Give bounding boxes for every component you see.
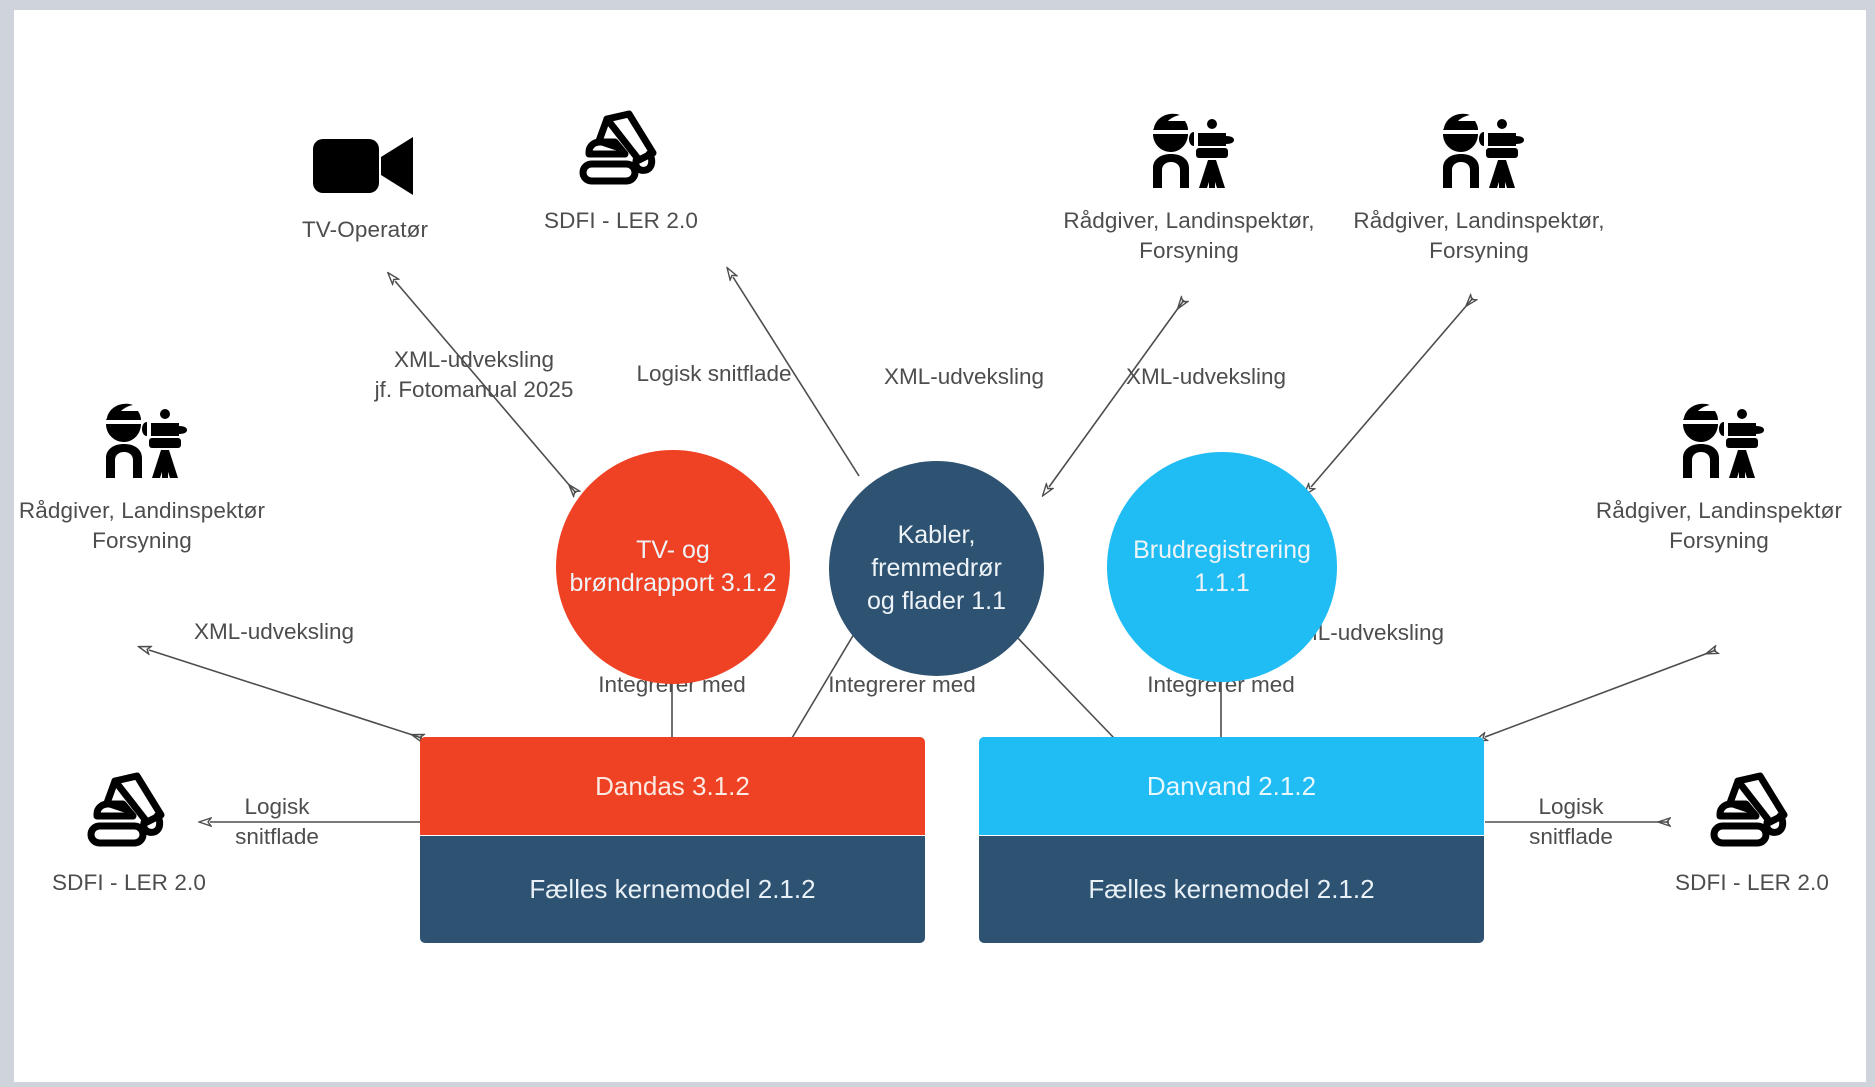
edge-label-integrerer-2: Integrerer med <box>792 670 1012 700</box>
excavator-icon <box>501 108 741 196</box>
node-label: Dandas 3.1.2 <box>595 771 750 802</box>
edge-label-xml-top-1: XML-udveksling <box>854 362 1074 392</box>
window-frame: TV-Operatør SDFI - LER 2.0 <box>0 0 1875 1087</box>
actor-label: Rådgiver, Landinspektør, Forsyning <box>1054 206 1324 266</box>
edge-label-logisk-left: Logisk snitflade <box>212 792 342 852</box>
node-kernemodel-right[interactable]: Fælles kernemodel 2.1.2 <box>979 836 1484 943</box>
node-label: Danvand 2.1.2 <box>1147 771 1316 802</box>
actor-label: Rådgiver, Landinspektør, Forsyning <box>1344 206 1614 266</box>
actor-sdfi-bottom-right[interactable]: SDFI - LER 2.0 <box>1652 770 1852 898</box>
actor-surveyor-left[interactable]: Rådgiver, Landinspektør Forsyning <box>14 400 277 556</box>
actor-label: TV-Operatør <box>265 215 465 245</box>
node-brudregistrering[interactable]: Brudregistrering 1.1.1 <box>1107 452 1337 682</box>
node-label: Fælles kernemodel 2.1.2 <box>529 874 815 905</box>
edge-kabler-danvand <box>1014 634 1114 738</box>
node-dandas[interactable]: Dandas 3.1.2 <box>420 737 925 835</box>
excavator-icon <box>1652 770 1852 858</box>
actor-surveyor-top-1[interactable]: Rådgiver, Landinspektør, Forsyning <box>1054 110 1324 266</box>
edge-label-logisk-right: Logisk snitflade <box>1506 792 1636 852</box>
actor-sdfi-top[interactable]: SDFI - LER 2.0 <box>501 108 741 236</box>
node-kabler-fremmedror[interactable]: Kabler, fremmedrør og flader 1.1 <box>829 461 1044 676</box>
surveyor-icon <box>1584 400 1854 486</box>
actor-sdfi-bottom-left[interactable]: SDFI - LER 2.0 <box>29 770 229 898</box>
edge-surveyor-top1 <box>1049 300 1184 487</box>
diagram-canvas: TV-Operatør SDFI - LER 2.0 <box>14 10 1866 1082</box>
edge-label-xml-fotomanual: XML-udveksling jf. Fotomanual 2025 <box>334 345 614 405</box>
node-label: Kabler, fremmedrør og flader 1.1 <box>829 519 1044 618</box>
actor-label: SDFI - LER 2.0 <box>29 868 229 898</box>
actor-label: SDFI - LER 2.0 <box>1652 868 1852 898</box>
excavator-icon <box>29 770 229 858</box>
surveyor-icon <box>1054 110 1324 196</box>
actor-label: Rådgiver, Landinspektør Forsyning <box>14 496 277 556</box>
edge-surveyor-right <box>1485 650 1716 737</box>
actor-label: SDFI - LER 2.0 <box>501 206 741 236</box>
actor-tv-operator[interactable]: TV-Operatør <box>265 135 465 245</box>
surveyor-icon <box>1344 110 1614 196</box>
edge-label-logisk-snitflade-top: Logisk snitflade <box>594 359 834 389</box>
node-label: Brudregistrering 1.1.1 <box>1133 534 1311 600</box>
actor-label: Rådgiver, Landinspektør Forsyning <box>1584 496 1854 556</box>
node-tv-brondrapport[interactable]: TV- og brøndrapport 3.1.2 <box>556 450 790 684</box>
actor-surveyor-top-2[interactable]: Rådgiver, Landinspektør, Forsyning <box>1344 110 1614 266</box>
surveyor-icon <box>14 400 277 486</box>
edge-label-xml-left: XML-udveksling <box>164 617 384 647</box>
edge-label-xml-top-2: XML-udveksling <box>1096 362 1316 392</box>
actor-surveyor-right[interactable]: Rådgiver, Landinspektør Forsyning <box>1584 400 1854 556</box>
node-kernemodel-left[interactable]: Fælles kernemodel 2.1.2 <box>420 836 925 943</box>
edge-surveyor-left <box>149 650 422 738</box>
edge-surveyor-top2 <box>1311 298 1473 487</box>
node-label: Fælles kernemodel 2.1.2 <box>1088 874 1374 905</box>
video-camera-icon <box>265 135 465 205</box>
node-label: TV- og brøndrapport 3.1.2 <box>569 534 776 600</box>
node-danvand[interactable]: Danvand 2.1.2 <box>979 737 1484 835</box>
